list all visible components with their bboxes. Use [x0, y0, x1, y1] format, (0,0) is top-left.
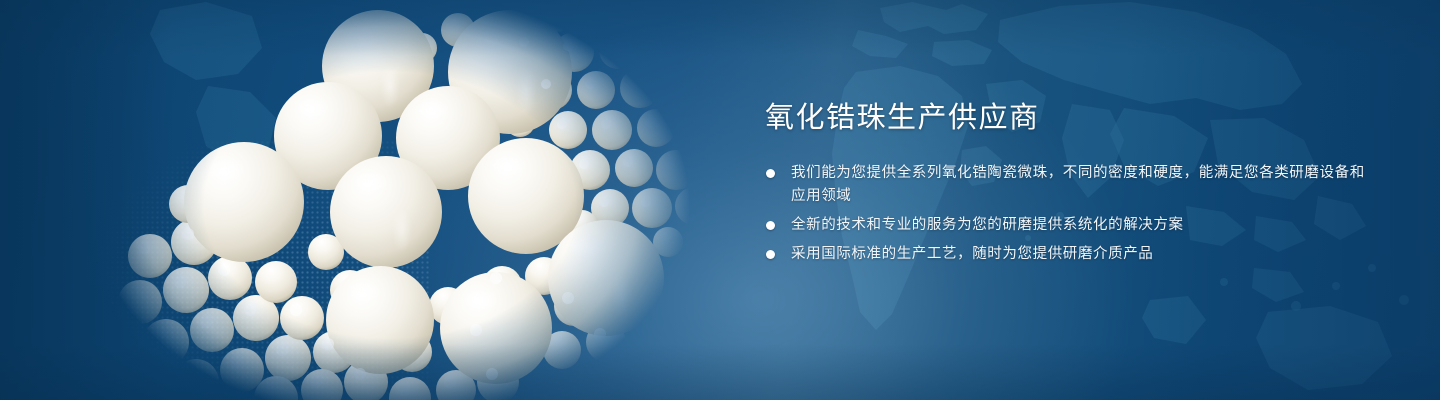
list-item-label: 全新的技术和专业的服务为您的研磨提供系统化的解决方案 — [791, 217, 1184, 233]
page-title: 氧化锆珠生产供应商 — [765, 100, 1365, 136]
feature-list: 我们能为您提供全系列氧化锆陶瓷微珠，不同的密度和硬度，能满足您各类研磨设备和应用… — [765, 162, 1365, 266]
list-item-label: 我们能为您提供全系列氧化锆陶瓷微珠，不同的密度和硬度，能满足您各类研磨设备和应用… — [791, 165, 1365, 204]
bullet-dot-icon — [766, 250, 775, 259]
list-item-label: 采用国际标准的生产工艺，随时为您提供研磨介质产品 — [791, 246, 1153, 262]
list-item: 我们能为您提供全系列氧化锆陶瓷微珠，不同的密度和硬度，能满足您各类研磨设备和应用… — [765, 162, 1365, 208]
banner-copy: 氧化锆珠生产供应商 我们能为您提供全系列氧化锆陶瓷微珠，不同的密度和硬度，能满足… — [765, 100, 1365, 272]
list-item: 采用国际标准的生产工艺，随时为您提供研磨介质产品 — [765, 243, 1365, 266]
list-item: 全新的技术和专业的服务为您的研磨提供系统化的解决方案 — [765, 214, 1365, 237]
bullet-dot-icon — [766, 169, 775, 178]
hero-banner: 氧化锆珠生产供应商 我们能为您提供全系列氧化锆陶瓷微珠，不同的密度和硬度，能满足… — [0, 0, 1440, 400]
bullet-dot-icon — [766, 221, 775, 230]
